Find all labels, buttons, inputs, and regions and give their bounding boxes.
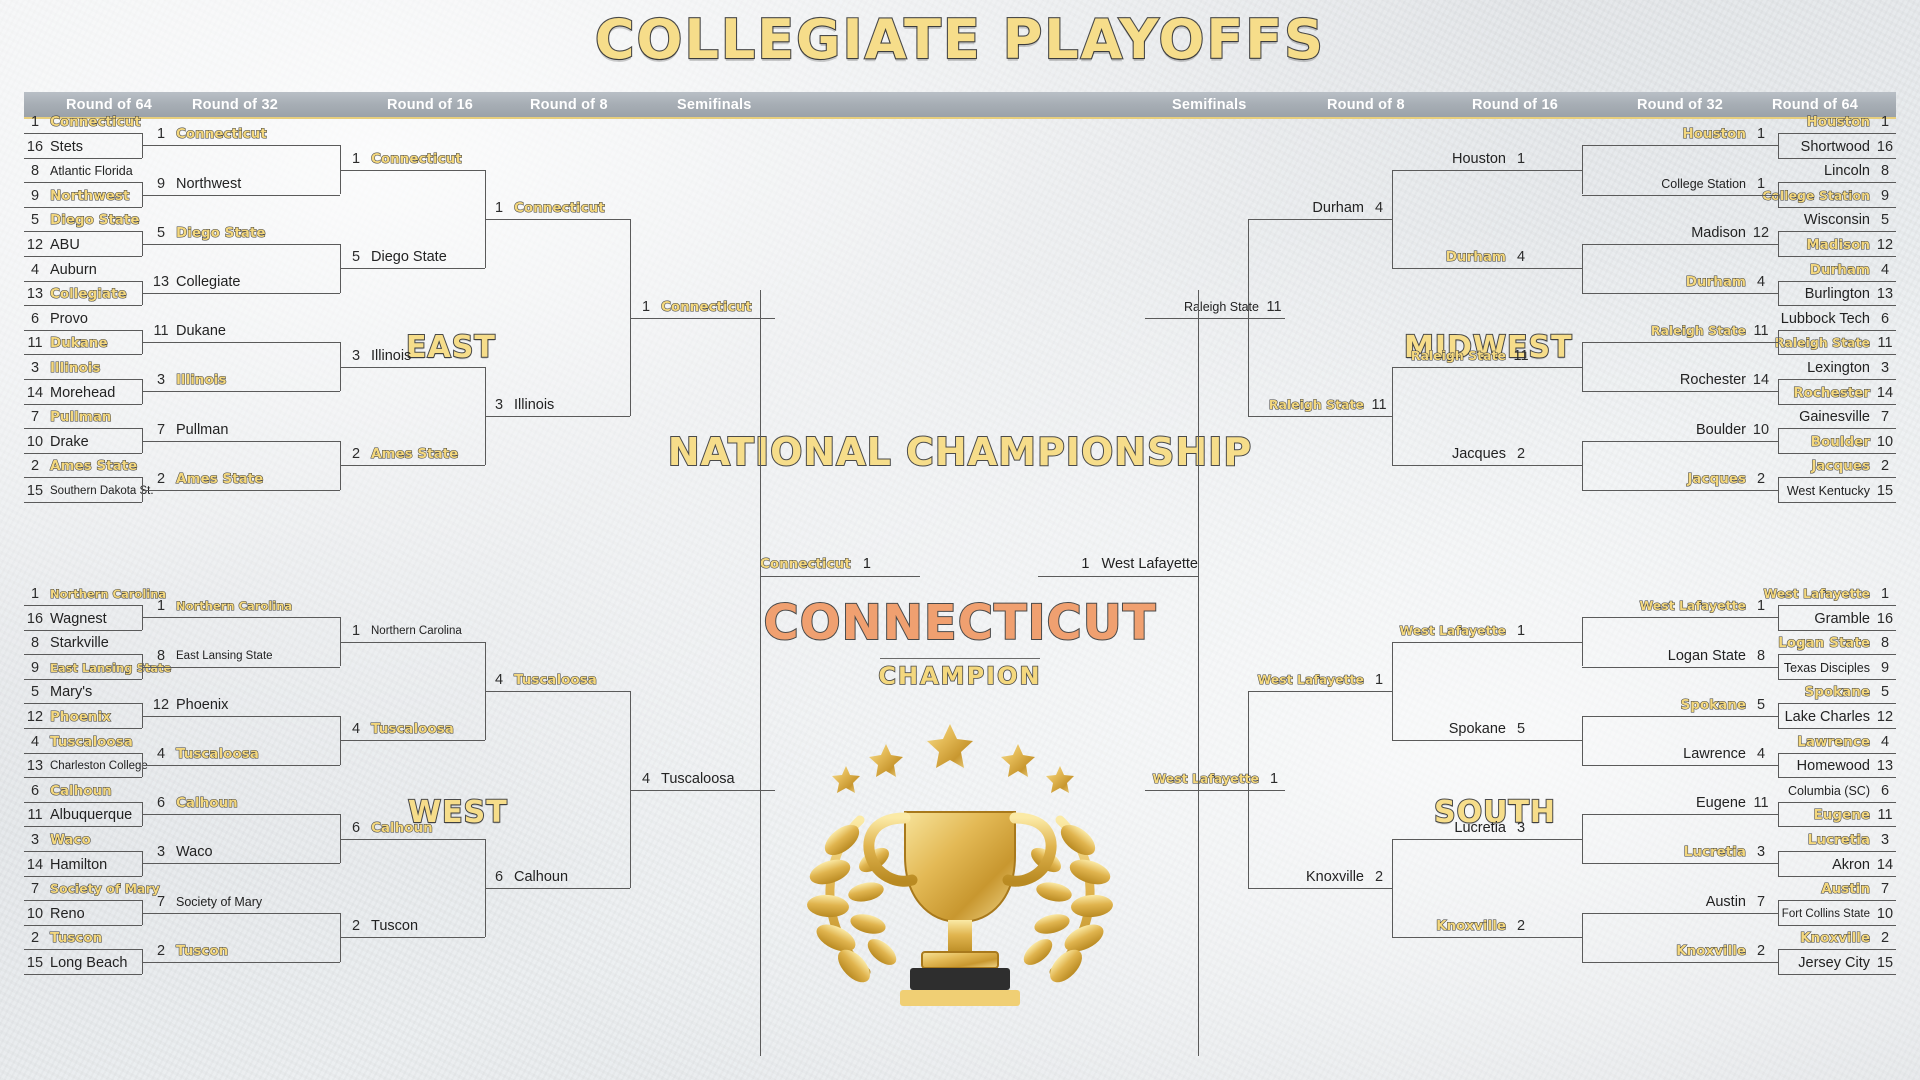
bracket-slot[interactable]: 4Durham (1392, 246, 1532, 268)
team-name: Spokane (1680, 694, 1746, 716)
bracket-slot[interactable]: 5Diego State (24, 209, 142, 231)
bracket-vertical (1778, 654, 1779, 679)
bracket-slot[interactable]: 2Jacques (1778, 455, 1896, 477)
bracket-slot[interactable]: 10Fort Collins State (1778, 903, 1896, 925)
team-name: Reno (50, 903, 85, 925)
bracket-slot[interactable]: 9Texas Disciples (1778, 657, 1896, 679)
slot-underline (1582, 667, 1772, 668)
bracket-slot[interactable]: 2Jacques (1582, 468, 1772, 490)
slot-underline (1582, 765, 1772, 766)
seed-number: 8 (1750, 645, 1772, 667)
bracket-vertical (1778, 330, 1779, 355)
bracket-slot[interactable]: 11Raleigh State (1582, 320, 1772, 342)
bracket-slot[interactable]: 1Northern Carolina (150, 595, 340, 617)
seed-number: 10 (1874, 431, 1896, 453)
bracket-slot[interactable]: 4Auburn (24, 259, 142, 281)
team-name: Diego State (176, 222, 266, 244)
bracket-slot[interactable]: 7Pullman (150, 419, 340, 441)
seed-number: 11 (1874, 804, 1896, 826)
bracket-slot[interactable]: 10Boulder (1582, 419, 1772, 441)
bracket-slot[interactable]: 1Connecticut (24, 111, 142, 133)
slot-underline (488, 888, 630, 889)
bracket-slot[interactable]: 9Northwest (24, 185, 142, 207)
bracket-slot[interactable]: 4Durham (1582, 271, 1772, 293)
team-name: Morehead (50, 382, 115, 404)
slot-underline (24, 753, 142, 754)
team-name: Northern Carolina (176, 595, 292, 617)
bracket-slot[interactable]: 4Durham (1248, 197, 1390, 219)
bracket-slot[interactable]: 11Raleigh State (1248, 394, 1390, 416)
slot-underline (150, 145, 340, 146)
bracket-slot[interactable]: 2Tuscon (24, 927, 142, 949)
seed-number: 10 (1750, 419, 1772, 441)
slot-underline (24, 158, 142, 159)
bracket-slot[interactable]: 2Ames State (150, 468, 340, 490)
bracket-slot[interactable]: 1Connecticut (345, 148, 485, 170)
bracket-slot[interactable]: 4Tuscaloosa (635, 768, 775, 790)
team-name: West Lafayette (1102, 556, 1198, 572)
seed-number: 2 (1874, 455, 1896, 477)
team-name: Northwest (50, 185, 129, 207)
seed-number: 1 (24, 111, 46, 133)
bracket-slot[interactable]: 5Spokane (1392, 718, 1532, 740)
slot-underline (1392, 937, 1532, 938)
bracket-horizontal (1772, 716, 1778, 717)
bracket-slot[interactable]: 2Tuscon (150, 940, 340, 962)
seed-number: 7 (1750, 891, 1772, 913)
bracket-slot[interactable]: 9Northwest (150, 173, 340, 195)
bracket-slot[interactable]: 1Northern Carolina (345, 620, 485, 642)
bracket-slot[interactable]: 1College Station (1582, 173, 1772, 195)
team-name: Madison (1691, 222, 1746, 244)
team-name: Gainesville (1799, 406, 1870, 428)
bracket-slot[interactable]: 10Boulder (1778, 431, 1896, 453)
bracket-slot[interactable]: 3Illinois (345, 345, 485, 367)
bracket-horizontal (1532, 170, 1582, 171)
bracket-slot[interactable]: 1Northern Carolina (24, 583, 142, 605)
slot-underline (24, 605, 142, 606)
team-name: Tuscon (50, 927, 102, 949)
bracket-slot[interactable]: 1Houston (1778, 111, 1896, 133)
bracket-slot[interactable]: 11Albuquerque (24, 804, 142, 826)
seed-number: 3 (345, 345, 367, 367)
slot-underline (24, 925, 142, 926)
final-right-underline (1038, 576, 1198, 577)
final-slot-right[interactable]: 1 West Lafayette (1038, 552, 1198, 576)
bracket-slot[interactable]: 8Lincoln (1778, 160, 1896, 182)
bracket-horizontal (1532, 740, 1582, 741)
bracket-slot[interactable]: 5Diego State (150, 222, 340, 244)
slot-underline (345, 465, 485, 466)
bracket-slot[interactable]: 6Calhoun (24, 780, 142, 802)
seed-number: 1 (1263, 768, 1285, 790)
bracket-slot[interactable]: 1Connecticut (635, 296, 775, 318)
slot-underline (1582, 244, 1772, 245)
bracket-horizontal (142, 342, 150, 343)
bracket-slot[interactable]: 14Rochester (1582, 369, 1772, 391)
seed-number: 3 (1874, 829, 1896, 851)
team-name: Northern Carolina (50, 583, 166, 605)
team-name: ABU (50, 234, 80, 256)
bracket-slot[interactable]: 3Lucretia (1778, 829, 1896, 851)
team-name: Long Beach (50, 952, 127, 974)
bracket-slot[interactable]: 3Waco (150, 841, 340, 863)
slot-underline (24, 305, 142, 306)
slot-underline (1582, 145, 1772, 146)
bracket-slot[interactable]: 5Mary's (24, 681, 142, 703)
seed-number: 5 (24, 681, 46, 703)
bracket-slot[interactable]: 4Tuscaloosa (345, 718, 485, 740)
team-name: Waco (50, 829, 91, 851)
slot-underline (1248, 691, 1390, 692)
seed-number: 4 (488, 669, 510, 691)
team-name: Lucretia (1808, 829, 1870, 851)
team-name: Raleigh State (1184, 296, 1259, 318)
bracket-slot[interactable]: 1West Lafayette (1778, 583, 1896, 605)
seed-number: 11 (1750, 792, 1772, 814)
final-right-vertical-lower (1198, 576, 1199, 1056)
bracket-slot[interactable]: 7Austin (1778, 878, 1896, 900)
bracket-slot[interactable]: 6Lubbock Tech (1778, 308, 1896, 330)
round-label-left-4: Semifinals (677, 97, 752, 113)
bracket-slot[interactable]: 1West Lafayette (1248, 669, 1390, 691)
slot-underline (1778, 974, 1896, 975)
team-name: Connecticut (371, 148, 462, 170)
team-name: Texas Disciples (1784, 657, 1870, 679)
bracket-slot[interactable]: 2Knoxville (1392, 915, 1532, 937)
bracket-slot[interactable]: 15Jersey City (1778, 952, 1896, 974)
seed-number: 7 (1874, 878, 1896, 900)
bracket-slot[interactable]: 15Long Beach (24, 952, 142, 974)
slot-underline (1582, 863, 1772, 864)
team-name: Logan State (1668, 645, 1746, 667)
bracket-slot[interactable]: 6Calhoun (488, 866, 630, 888)
bracket-slot[interactable]: 7Society of Mary (150, 891, 340, 913)
slot-underline (24, 630, 142, 631)
bracket-slot[interactable]: 7Gainesville (1778, 406, 1896, 428)
bracket-slot[interactable]: 2Knoxville (1778, 927, 1896, 949)
final-slot-left[interactable]: Connecticut 1 (760, 552, 920, 576)
slot-underline (1778, 305, 1896, 306)
bracket-slot[interactable]: 6Calhoun (150, 792, 340, 814)
seed-number: 15 (24, 952, 46, 974)
bracket-horizontal (1772, 391, 1778, 392)
seed-number: 3 (24, 829, 46, 851)
bracket-slot[interactable]: 2Tuscon (345, 915, 485, 937)
slot-underline (24, 826, 142, 827)
slot-underline (1582, 814, 1772, 815)
bracket-slot[interactable]: 5Spokane (1778, 681, 1896, 703)
bracket-vertical (1778, 900, 1779, 925)
bracket-slot[interactable]: 10Drake (24, 431, 142, 453)
team-name: Charleston College (50, 755, 148, 777)
bracket-slot[interactable]: 12Phoenix (150, 694, 340, 716)
slot-underline (488, 691, 630, 692)
bracket-slot[interactable]: 13Collegiate (150, 271, 340, 293)
slot-underline (345, 170, 485, 171)
seed-number: 8 (1874, 632, 1896, 654)
bracket-horizontal (1772, 913, 1778, 914)
team-name: Pullman (176, 419, 228, 441)
bracket-slot[interactable]: 3Illinois (24, 357, 142, 379)
slot-underline (1778, 453, 1896, 454)
bracket-slot[interactable]: 11Raleigh State (1778, 332, 1896, 354)
final-left-vertical (760, 290, 761, 576)
bracket-slot[interactable]: 2Knoxville (1248, 866, 1390, 888)
team-name: Ames State (50, 455, 137, 477)
seed-number: 14 (1874, 854, 1896, 876)
bracket-slot[interactable]: 6Provo (24, 308, 142, 330)
page-title: COLLEGIATE PLAYOFFS (0, 8, 1920, 71)
bracket-slot[interactable]: 4Tuscaloosa (488, 669, 630, 691)
bracket-slot[interactable]: 13Collegiate (24, 283, 142, 305)
bracket-vertical (1582, 342, 1583, 391)
bracket-vertical (1582, 244, 1583, 293)
team-name: Madison (1806, 234, 1870, 256)
bracket-horizontal (142, 145, 150, 146)
bracket-slot[interactable]: 4Tuscaloosa (150, 743, 340, 765)
slot-underline (1778, 679, 1896, 680)
bracket-slot[interactable]: 10Reno (24, 903, 142, 925)
bracket-slot[interactable]: 12Madison (1778, 234, 1896, 256)
bracket-slot[interactable]: 8Logan State (1582, 645, 1772, 667)
team-name: Lawrence (1683, 743, 1746, 765)
slot-underline (1248, 219, 1390, 220)
team-name: Durham (1312, 197, 1364, 219)
bracket-slot[interactable]: 13Homewood (1778, 755, 1896, 777)
bracket-vertical (1778, 428, 1779, 453)
bracket-horizontal (1532, 937, 1582, 938)
slot-underline (1778, 428, 1896, 429)
team-name: Albuquerque (50, 804, 132, 826)
seed-number: 11 (150, 320, 172, 342)
team-name: Tuscaloosa (661, 768, 735, 790)
team-name: Wisconsin (1804, 209, 1870, 231)
bracket-slot[interactable]: 1West Lafayette (1582, 595, 1772, 617)
bracket-slot[interactable]: 14Morehead (24, 382, 142, 404)
bracket-vertical (1392, 367, 1393, 465)
bracket-slot[interactable]: 9East Lansing State (24, 657, 142, 679)
team-name: West Lafayette (1639, 595, 1746, 617)
bracket-slot[interactable]: 3Lexington (1778, 357, 1896, 379)
bracket-slot[interactable]: 11Eugene (1778, 804, 1896, 826)
slot-underline (345, 839, 485, 840)
team-name: Austin (1821, 878, 1870, 900)
bracket-slot[interactable]: 3Lucretia (1582, 841, 1772, 863)
seed-number: 3 (488, 394, 510, 416)
bracket-slot[interactable]: 3Lucretia (1392, 817, 1532, 839)
bracket-slot[interactable]: 8Logan State (1778, 632, 1896, 654)
seed-number: 14 (24, 854, 46, 876)
seed-number: 4 (1368, 197, 1390, 219)
slot-underline (488, 219, 630, 220)
bracket-slot[interactable]: 5Wisconsin (1778, 209, 1896, 231)
team-name: Auburn (50, 259, 97, 281)
team-name: Phoenix (176, 694, 228, 716)
bracket-horizontal (1532, 839, 1582, 840)
team-name: Calhoun (176, 792, 238, 814)
team-name: Diego State (371, 246, 447, 268)
seed-number: 2 (1368, 866, 1390, 888)
bracket-slot[interactable]: 13Charleston College (24, 755, 142, 777)
slot-underline (1392, 740, 1532, 741)
bracket-vertical (1778, 231, 1779, 256)
bracket-slot[interactable]: 11Raleigh State (1145, 296, 1285, 318)
bracket-horizontal (1772, 814, 1778, 815)
round-label-right-1: Round of 8 (1327, 97, 1405, 113)
slot-underline (24, 281, 142, 282)
team-name: Rochester (1793, 382, 1870, 404)
seed-number: 2 (24, 455, 46, 477)
bracket-slot[interactable]: 2Ames State (345, 443, 485, 465)
seed-number: 9 (1874, 185, 1896, 207)
bracket-slot[interactable]: 1Houston (1392, 148, 1532, 170)
slot-underline (24, 728, 142, 729)
seed-number: 1 (1510, 620, 1532, 642)
team-name: Northern Carolina (371, 620, 462, 642)
seed-number: 2 (1510, 915, 1532, 937)
bracket-slot[interactable]: 16Wagnest (24, 608, 142, 630)
bracket-slot[interactable]: 12ABU (24, 234, 142, 256)
bracket-slot[interactable]: 11Dukane (150, 320, 340, 342)
seed-number: 16 (24, 136, 46, 158)
bracket-slot[interactable]: 15Southern Dakota St. (24, 480, 142, 502)
bracket-slot[interactable]: 16Gramble (1778, 608, 1896, 630)
slot-underline (1582, 441, 1772, 442)
team-name: Illinois (514, 394, 554, 416)
bracket-slot[interactable]: 8Atlantic Florida (24, 160, 142, 182)
bracket-horizontal (1390, 219, 1392, 220)
bracket-slot[interactable]: 15West Kentucky (1778, 480, 1896, 502)
slot-underline (24, 182, 142, 183)
seed-number: 1 (150, 595, 172, 617)
team-name: Spokane (1804, 681, 1870, 703)
bracket-slot[interactable]: 14Rochester (1778, 382, 1896, 404)
slot-underline (1778, 158, 1896, 159)
bracket-slot[interactable]: 8Starkville (24, 632, 142, 654)
bracket-slot[interactable]: 11Eugene (1582, 792, 1772, 814)
team-name: Phoenix (50, 706, 111, 728)
slot-underline (150, 342, 340, 343)
bracket-slot[interactable]: 13Burlington (1778, 283, 1896, 305)
bracket-slot[interactable]: 4Durham (1778, 259, 1896, 281)
bracket-slot[interactable]: 11Raleigh State (1392, 345, 1532, 367)
slot-underline (1582, 962, 1772, 963)
bracket-slot[interactable]: 1Houston (1582, 123, 1772, 145)
bracket-slot[interactable]: 7Pullman (24, 406, 142, 428)
bracket-slot[interactable]: 2Ames State (24, 455, 142, 477)
seed-number: 4 (1874, 259, 1896, 281)
team-name: Illinois (50, 357, 100, 379)
bracket-slot[interactable]: 5Diego State (345, 246, 485, 268)
bracket-slot[interactable]: 9College Station (1778, 185, 1896, 207)
team-name: Raleigh State (1651, 320, 1746, 342)
seed-number: 4 (150, 743, 172, 765)
seed-number: 5 (24, 209, 46, 231)
team-name: Waco (176, 841, 213, 863)
bracket-slot[interactable]: 5Spokane (1582, 694, 1772, 716)
slot-underline (1145, 790, 1285, 791)
slot-underline (150, 441, 340, 442)
bracket-slot[interactable]: 6Calhoun (345, 817, 485, 839)
bracket-slot[interactable]: 12Madison (1582, 222, 1772, 244)
slot-underline (150, 814, 340, 815)
bracket-slot[interactable]: 2Knoxville (1582, 940, 1772, 962)
bracket-slot[interactable]: 4Lawrence (1582, 743, 1772, 765)
bracket-slot[interactable]: 1West Lafayette (1392, 620, 1532, 642)
seed-number: 6 (1874, 308, 1896, 330)
bracket-horizontal (142, 617, 150, 618)
bracket-horizontal (1772, 667, 1778, 668)
team-name: Logan State (1778, 632, 1870, 654)
seed-number: 2 (345, 915, 367, 937)
team-name: Shortwood (1801, 136, 1870, 158)
bracket-slot[interactable]: 3Illinois (150, 369, 340, 391)
bracket-slot[interactable]: 3Illinois (488, 394, 630, 416)
team-name: Hamilton (50, 854, 107, 876)
bracket-slot[interactable]: 4Lawrence (1778, 731, 1896, 753)
bracket-horizontal (142, 490, 150, 491)
bracket-slot[interactable]: 3Waco (24, 829, 142, 851)
slot-underline (1582, 913, 1772, 914)
slot-underline (1778, 949, 1896, 950)
team-name: Northwest (176, 173, 241, 195)
bracket-slot[interactable]: 4Tuscaloosa (24, 731, 142, 753)
team-name: Drake (50, 431, 89, 453)
team-name: Calhoun (514, 866, 568, 888)
seed-number: 1 (488, 197, 510, 219)
seed-number: 11 (1263, 296, 1285, 318)
bracket-horizontal (1532, 642, 1582, 643)
bracket-horizontal (1772, 145, 1778, 146)
slot-underline (24, 379, 142, 380)
team-name: Raleigh State (1411, 345, 1506, 367)
slot-underline (1778, 630, 1896, 631)
bracket-slot[interactable]: 2Jacques (1392, 443, 1532, 465)
bracket-slot[interactable]: 7Society of Mary (24, 878, 142, 900)
team-name: Connecticut (514, 197, 605, 219)
bracket-slot[interactable]: 16Stets (24, 136, 142, 158)
team-name: Lincoln (1824, 160, 1870, 182)
bracket-slot[interactable]: 6Columbia (SC) (1778, 780, 1896, 802)
bracket-slot[interactable]: 16Shortwood (1778, 136, 1896, 158)
bracket-slot[interactable]: 1Connecticut (150, 123, 340, 145)
slot-underline (150, 962, 340, 963)
slot-underline (1778, 182, 1896, 183)
bracket-slot[interactable]: 7Austin (1582, 891, 1772, 913)
slot-underline (1392, 642, 1532, 643)
team-name: Ames State (371, 443, 458, 465)
bracket-vertical (1778, 802, 1779, 827)
bracket-slot[interactable]: 1Connecticut (488, 197, 630, 219)
bracket-slot[interactable]: 12Lake Charles (1778, 706, 1896, 728)
slot-underline (1778, 207, 1896, 208)
seed-number: 1 (345, 148, 367, 170)
seed-number: 2 (150, 940, 172, 962)
bracket-slot[interactable]: 11Dukane (24, 332, 142, 354)
bracket-slot[interactable]: 1West Lafayette (1145, 768, 1285, 790)
bracket-slot[interactable]: 14Hamilton (24, 854, 142, 876)
bracket-slot[interactable]: 8East Lansing State (150, 645, 340, 667)
team-name: Eugene (1696, 792, 1746, 814)
trophy-icon (760, 700, 1160, 1030)
bracket-horizontal (1772, 962, 1778, 963)
bracket-horizontal (1772, 244, 1778, 245)
team-name: Lucretia (1454, 817, 1506, 839)
bracket-slot[interactable]: 14Akron (1778, 854, 1896, 876)
bracket-horizontal (1772, 617, 1778, 618)
bracket-slot[interactable]: 12Phoenix (24, 706, 142, 728)
